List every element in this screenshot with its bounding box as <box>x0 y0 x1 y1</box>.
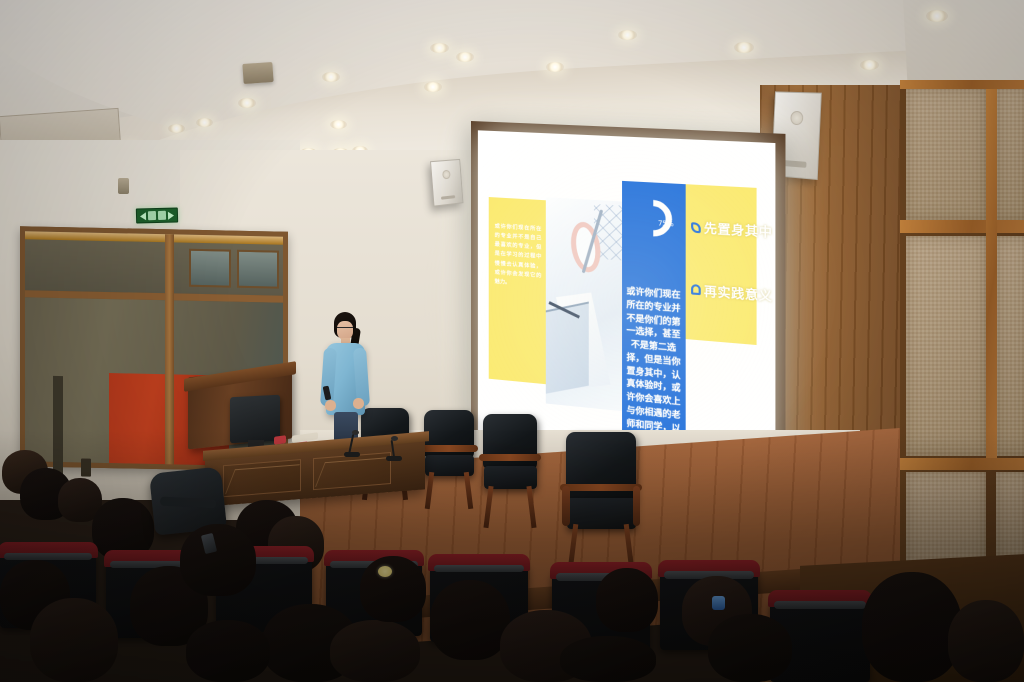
seat-trim <box>434 565 524 572</box>
donut-ring-arc <box>628 193 680 244</box>
exit-door-icon <box>158 211 166 220</box>
copper-trim-horizontal <box>900 458 1024 470</box>
slide-bullet-row-1: 先置身其中 <box>691 218 752 240</box>
slide-left-yellow-block: 或许你们现在所在的专业并不是自己最喜欢的专业，但是在学习的过程中慢慢去认真体验，… <box>489 197 546 384</box>
exit-arrow-right-icon <box>168 211 174 219</box>
slide-bullet-text-2: 再实践意义 <box>704 281 773 304</box>
ceiling-downlight <box>456 52 474 62</box>
audience-head <box>360 556 426 622</box>
chair-armrest-bar <box>420 445 478 452</box>
slide-bullet-row-2: 再实践意义 <box>691 280 752 302</box>
table-front-panel <box>223 459 301 497</box>
exit-sign <box>136 207 178 223</box>
exit-arrow-left-icon <box>140 212 146 220</box>
copper-trim-horizontal <box>900 220 1024 233</box>
acoustic-fabric-panel <box>996 86 1024 220</box>
acoustic-fabric-panel <box>996 236 1024 456</box>
acoustic-fabric-panel <box>906 88 986 220</box>
audience-head <box>330 620 420 682</box>
audience-head <box>708 614 792 682</box>
microphone-base <box>386 456 402 461</box>
audience-head <box>180 524 256 596</box>
slide-photo-desk <box>546 197 622 412</box>
presenter-hand-right <box>353 398 364 409</box>
lecture-hall-photo: 或许你们现在所在的专业并不是自己最喜欢的专业，但是在学习的过程中慢慢去认真体验，… <box>0 0 1024 682</box>
ceiling-downlight <box>196 118 213 127</box>
drink-can <box>712 596 725 610</box>
ceiling-downlight <box>618 30 637 40</box>
speaker-port <box>783 160 807 168</box>
ceiling-downlight <box>238 98 256 108</box>
door-transom <box>25 231 283 302</box>
slide-right-yellow-block: 先置身其中 再实践意义 <box>685 184 756 345</box>
chair-armrest-bar <box>560 484 641 491</box>
wall-light-fixture <box>118 178 129 194</box>
speaker-port <box>441 195 456 200</box>
donut-chart: 75% <box>635 200 672 238</box>
ceiling-downlight <box>322 72 340 82</box>
copper-trim-top <box>900 80 1024 89</box>
lectern-monitor[interactable] <box>230 395 280 444</box>
audience-head <box>430 580 510 660</box>
audience-head <box>30 598 118 682</box>
microphone-head <box>352 430 359 435</box>
chair-backrest <box>566 432 636 503</box>
ceiling-downlight <box>860 60 879 70</box>
acoustic-fabric-panel <box>906 236 986 456</box>
stage-chair[interactable] <box>483 414 537 506</box>
stage-chair[interactable] <box>424 410 474 490</box>
exit-person-icon <box>148 211 156 220</box>
chair-armrest-right <box>633 486 641 526</box>
speaker-cone-icon <box>790 111 803 126</box>
slide-blue-block: 75% 或许你们现在所在的专业并不是你们的第一选择，甚至不是第二选择，但是当你置… <box>622 181 685 449</box>
audience-head <box>948 600 1024 682</box>
ceiling-downlight <box>546 62 564 72</box>
transom-window <box>237 250 279 289</box>
slide-blue-paragraph: 或许你们现在所在的专业并不是你们的第一选择，甚至不是第二选择，但是当你置身其中，… <box>626 286 680 450</box>
slide-bullet-text-1: 先置身其中 <box>704 219 773 241</box>
donut-percent-label: 75% <box>658 220 674 229</box>
photo-laptop-icon <box>546 301 588 394</box>
ceiling-downlight <box>926 10 948 22</box>
seat-trim <box>4 553 92 560</box>
copper-trim-vertical <box>986 80 997 460</box>
audience-head <box>596 568 658 632</box>
ceiling-downlight <box>734 42 754 53</box>
table-front-panel <box>313 452 391 490</box>
wall-speaker-left <box>430 159 463 207</box>
ceiling-downlight <box>168 124 185 133</box>
microphone-head <box>391 436 398 441</box>
ceiling-downlight <box>424 82 442 92</box>
backpack-strap <box>160 497 216 509</box>
audience-head <box>862 572 962 682</box>
chair-armrest-bar <box>479 454 542 461</box>
seat-trim <box>774 601 866 609</box>
microphone-base <box>344 452 360 457</box>
audience-head <box>186 620 270 682</box>
door-switch-plate[interactable] <box>81 458 91 476</box>
audience-head <box>560 636 656 682</box>
ceiling-vent <box>242 62 273 84</box>
ceiling-downlight <box>330 120 347 129</box>
glasses-icon <box>337 327 353 331</box>
book-icon <box>691 222 701 233</box>
transom-light-strip <box>25 231 283 244</box>
hair-scrunchie <box>378 566 392 577</box>
slide-left-yellow-text: 或许你们现在所在的专业并不是自己最喜欢的专业，但是在学习的过程中慢慢去认真体验，… <box>495 223 542 291</box>
lightbulb-icon <box>691 284 701 295</box>
chair-armrest-left <box>562 486 570 526</box>
speaker-cone-icon <box>442 170 451 180</box>
ceiling-downlight <box>430 43 449 53</box>
presenter-hand-left <box>325 400 336 411</box>
transom-window <box>189 249 231 288</box>
stage-chair-front[interactable] <box>566 432 636 550</box>
door-mullion <box>165 234 174 464</box>
